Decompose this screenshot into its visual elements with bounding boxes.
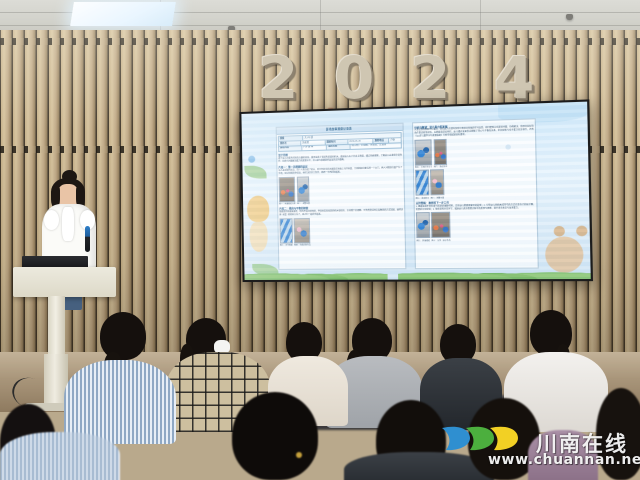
ceiling-camera-icon [566,14,573,20]
microphone [85,226,90,252]
projection-screen: 游戏故事观察记录表 班级 大 (3) 班 观察者 刘老师 观察时间 2024-0… [239,99,593,282]
year-digit-3: 2 [410,52,450,104]
list-item [232,392,318,480]
projected-slide: 游戏故事观察记录表 班级 大 (3) 班 观察者 刘老师 观察时间 2024-0… [241,102,590,280]
podium-desk [13,267,116,297]
year-digit-4: 4 [494,52,534,104]
ceiling-light [70,2,176,26]
photo-scene: 2 0 2 4 游戏故事观察记录表 班级 [0,0,640,480]
year-digit-1: 2 [258,52,298,104]
list-item [64,360,176,444]
year-sign-2024: 2 0 2 4 [258,52,558,104]
year-digit-2: 0 [334,52,374,104]
list-item [596,388,640,480]
